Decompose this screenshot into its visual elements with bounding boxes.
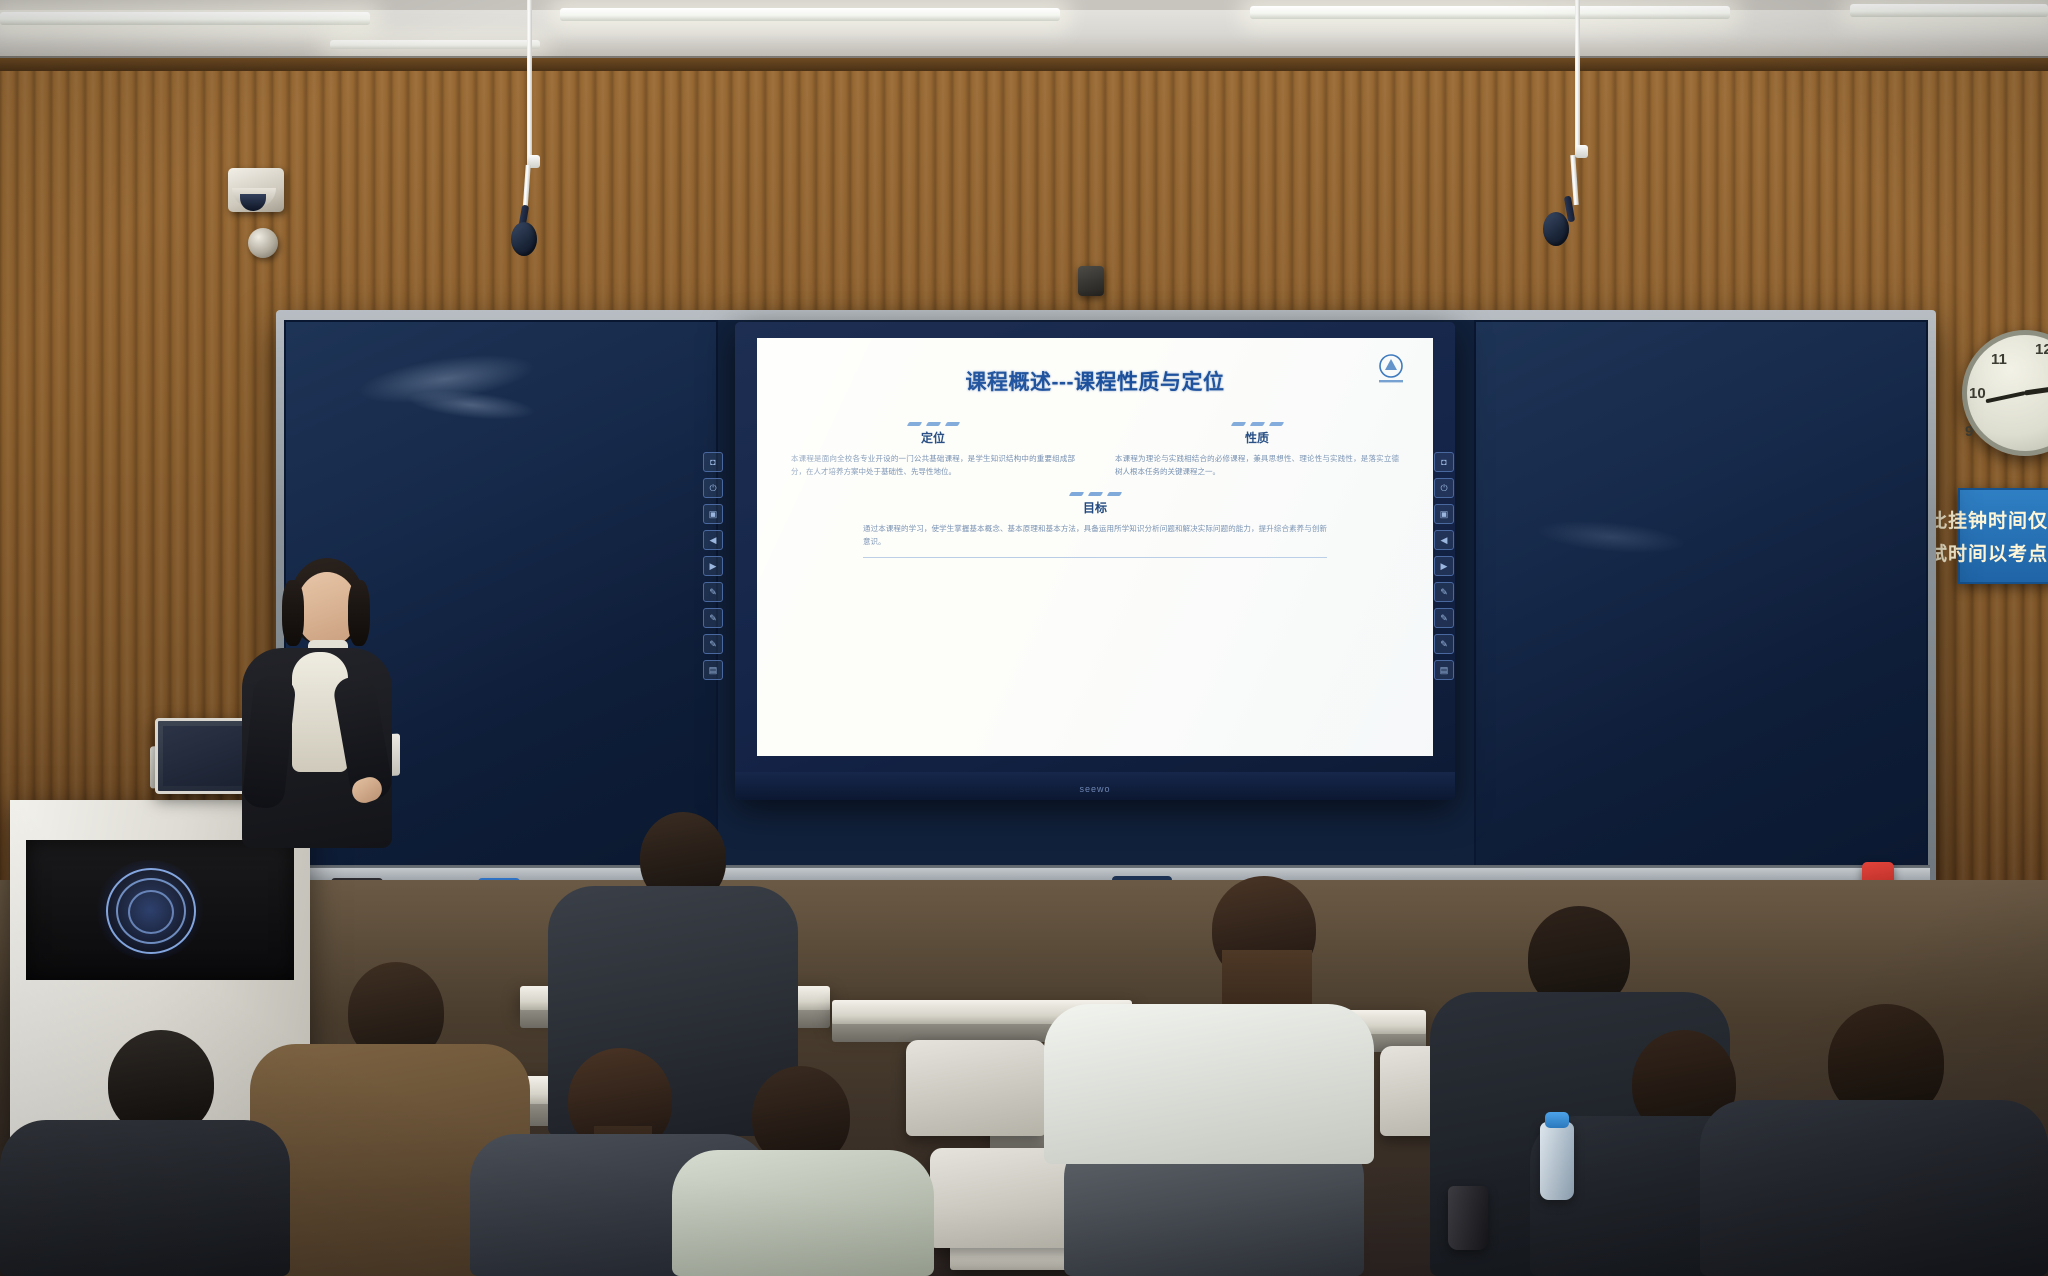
travel-mug[interactable] <box>1448 1186 1488 1250</box>
sign-line-1: 此挂钟时间仅供参考 <box>1928 506 2048 533</box>
slide-column-left: 定位 本课程是面向全校各专业开设的一门公共基础课程，是学生知识结构中的重要组成部… <box>791 422 1075 478</box>
pen-icon[interactable]: ✎ <box>1434 582 1454 602</box>
classroom-photo: 12 11 10 9 此挂钟时间仅供参考 考试时间以考点广播为准 <box>0 0 2048 1276</box>
clock-number: 11 <box>1991 351 2007 368</box>
decor-ticks <box>1115 422 1399 426</box>
decor-ticks <box>791 422 1075 426</box>
presentation-slide: 课程概述---课程性质与定位 定位 本课程是面向全校各专业开设的一门公共基础课程… <box>757 338 1433 756</box>
bottom-body: 通过本课程的学习，使学生掌握基本概念、基本原理和基本方法，具备运用所学知识分析问… <box>863 522 1327 548</box>
smart-display[interactable]: 课程概述---课程性质与定位 定位 本课程是面向全校各专业开设的一门公共基础课程… <box>735 322 1455 800</box>
input-icon[interactable]: ▣ <box>1434 504 1454 524</box>
input-icon[interactable]: ▣ <box>703 504 723 524</box>
eraser-icon[interactable]: ▤ <box>703 660 723 680</box>
clock-number: 9 <box>1965 423 1973 440</box>
display-brand: seewo <box>1079 784 1110 794</box>
slide-columns: 定位 本课程是面向全校各专业开设的一门公共基础课程，是学生知识结构中的重要组成部… <box>777 422 1413 478</box>
dome-surveillance-camera <box>228 168 284 212</box>
column-body: 本课程是面向全校各专业开设的一门公共基础课程，是学生知识结构中的重要组成部分，在… <box>791 452 1075 478</box>
volume-icon[interactable]: ◀ <box>703 530 723 550</box>
pen-icon[interactable]: ✎ <box>703 634 723 654</box>
play-icon[interactable]: ▶ <box>1434 556 1454 576</box>
pen-icon[interactable]: ✎ <box>703 582 723 602</box>
decor-ticks <box>863 492 1327 496</box>
water-bottle[interactable] <box>1540 1122 1574 1200</box>
slide-column-right: 性质 本课程为理论与实践相结合的必修课程，兼具思想性、理论性与实践性，是落实立德… <box>1115 422 1399 478</box>
exam-notice-sign: 此挂钟时间仅供参考 考试时间以考点广播为准 <box>1958 488 2048 584</box>
slide-bottom-block: 目标 通过本课程的学习，使学生掌握基本概念、基本原理和基本方法，具备运用所学知识… <box>777 492 1413 557</box>
slide-rule <box>863 557 1327 558</box>
fluorescent-light-strip <box>560 8 1060 21</box>
ceiling-projector-mount <box>1078 266 1104 296</box>
bottle-cap <box>1545 1112 1569 1128</box>
column-heading: 定位 <box>791 429 1075 446</box>
volume-icon[interactable]: ◀ <box>1434 530 1454 550</box>
column-body: 本课程为理论与实践相结合的必修课程，兼具思想性、理论性与实践性，是落实立德树人根… <box>1115 452 1399 478</box>
board-controls-right[interactable]: ◘ ⏻ ▣ ◀ ▶ ✎ ✎ ✎ ▤ <box>1434 452 1456 680</box>
clock-number: 12 <box>2035 341 2048 358</box>
university-emblem <box>96 860 204 960</box>
fluorescent-light-strip <box>1250 6 1730 19</box>
power-icon[interactable]: ⏻ <box>703 478 723 498</box>
chalkboard-right <box>1474 320 1928 870</box>
ceiling-speaker <box>248 228 278 258</box>
slide-title: 课程概述---课程性质与定位 <box>777 366 1413 396</box>
pen-icon[interactable]: ✎ <box>703 608 723 628</box>
clock-number: 10 <box>1969 385 1986 402</box>
eraser-icon[interactable]: ▤ <box>1434 660 1454 680</box>
slide-screen: 课程概述---课程性质与定位 定位 本课程是面向全校各专业开设的一门公共基础课程… <box>757 338 1433 756</box>
classroom-chair <box>906 1040 1046 1136</box>
pen-icon[interactable]: ✎ <box>1434 608 1454 628</box>
fluorescent-light-strip <box>0 12 370 25</box>
power-icon[interactable]: ⏻ <box>1434 478 1454 498</box>
display-bottom-bezel: seewo <box>735 772 1455 800</box>
board-controls-left[interactable]: ◘ ⏻ ▣ ◀ ▶ ✎ ✎ ✎ ▤ <box>703 452 725 680</box>
bottom-heading: 目标 <box>863 499 1327 516</box>
mic-icon[interactable]: ◘ <box>703 452 723 472</box>
play-icon[interactable]: ▶ <box>703 556 723 576</box>
university-crest-icon <box>1371 352 1411 386</box>
wall-trim <box>0 58 2048 71</box>
column-heading: 性质 <box>1115 429 1399 446</box>
mic-icon[interactable]: ◘ <box>1434 452 1454 472</box>
fluorescent-light-strip <box>330 40 540 49</box>
fluorescent-light-strip <box>1850 4 2048 17</box>
clock-minute-hand <box>1985 391 2025 403</box>
pen-icon[interactable]: ✎ <box>1434 634 1454 654</box>
clock-hour-hand <box>2024 387 2048 396</box>
